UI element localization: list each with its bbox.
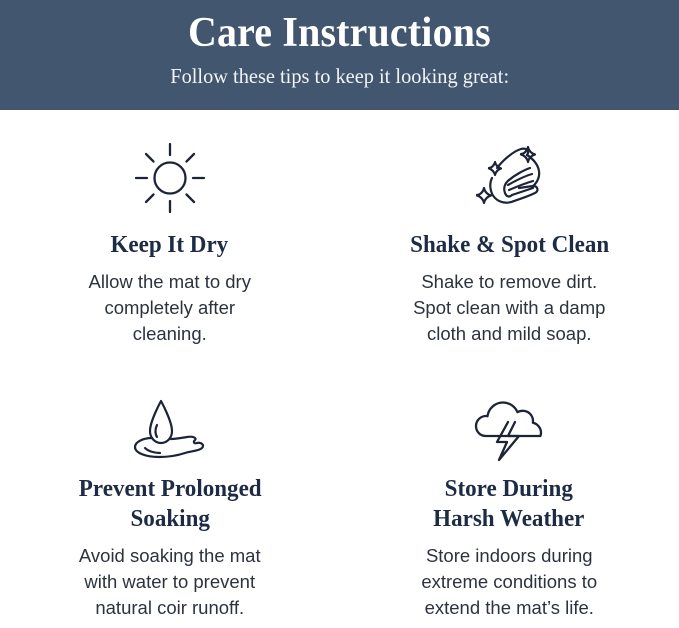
washing-hands-sparkle-icon xyxy=(467,136,551,220)
tip-card-shake-spot-clean: Shake & Spot Clean Shake to remove dirt.… xyxy=(340,110,679,382)
cloud-lightning-icon xyxy=(467,390,551,466)
sun-icon xyxy=(128,136,212,220)
tip-card-store-during-harsh-weather: Store During Harsh Weather Store indoors… xyxy=(340,382,679,628)
tip-card-keep-it-dry: Keep It Dry Allow the mat to dry complet… xyxy=(0,110,340,382)
care-instructions-infographic: Care Instructions Follow these tips to k… xyxy=(0,0,679,628)
water-droplet-puddle-icon xyxy=(128,390,212,466)
page-title: Care Instructions xyxy=(188,8,491,58)
header-banner: Care Instructions Follow these tips to k… xyxy=(0,0,679,110)
tip-body: Avoid soaking the mat with water to prev… xyxy=(79,543,261,621)
tip-heading: Keep It Dry xyxy=(111,230,229,260)
tip-heading: Shake & Spot Clean xyxy=(410,230,609,260)
tip-body: Store indoors during extreme conditions … xyxy=(421,543,597,621)
tip-body: Allow the mat to dry completely after cl… xyxy=(89,269,251,347)
tip-heading: Store During Harsh Weather xyxy=(434,474,585,534)
tip-card-prevent-prolonged-soaking: Prevent Prolonged Soaking Avoid soaking … xyxy=(0,382,340,628)
page-subtitle: Follow these tips to keep it looking gre… xyxy=(170,62,509,90)
tip-heading: Prevent Prolonged Soaking xyxy=(78,474,261,534)
tips-grid: Keep It Dry Allow the mat to dry complet… xyxy=(0,110,679,628)
tip-body: Shake to remove dirt. Spot clean with a … xyxy=(413,269,605,347)
